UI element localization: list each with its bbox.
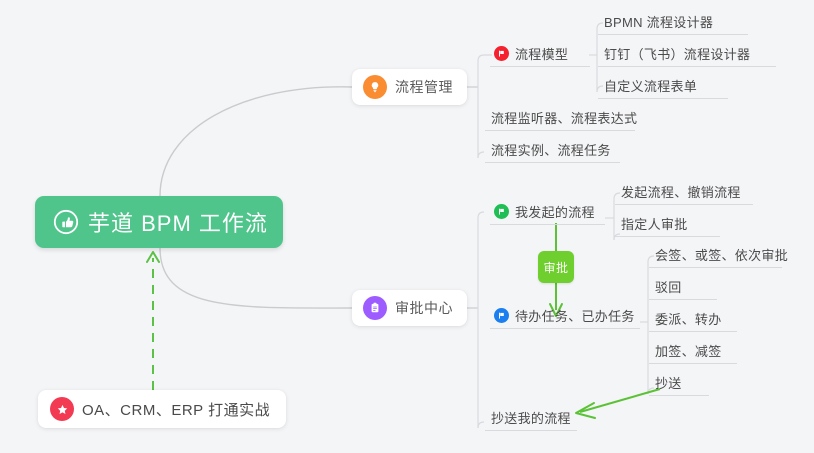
approval-chip-label: 审批 [543,259,568,276]
branch-process-management[interactable]: 流程管理 [352,69,467,105]
leaf-process-model[interactable]: 流程模型 [490,41,590,67]
branch-approval-center[interactable]: 审批中心 [352,290,467,326]
flag-icon [494,46,509,61]
bottom-note-card[interactable]: OA、CRM、ERP 打通实战 [38,390,286,428]
bottom-note-label: OA、CRM、ERP 打通实战 [82,399,270,420]
leaf-my-started-processes-label: 我发起的流程 [515,205,595,220]
flag-icon [494,308,509,323]
branch-approval-center-label: 审批中心 [395,298,453,318]
leaf-add-remove-sign[interactable]: 加签、减签 [649,338,737,364]
leaf-cc-to-me[interactable]: 抄送我的流程 [485,405,577,431]
branch-process-management-label: 流程管理 [395,77,453,97]
arrow-cc-shaft [580,389,660,412]
approval-chip[interactable]: 审批 [538,251,574,283]
leaf-listener-expression[interactable]: 流程监听器、流程表达式 [485,105,635,131]
star-icon [50,397,74,421]
leaf-reject-label: 驳回 [655,280,682,295]
leaf-assignee-approval-label: 指定人审批 [621,217,688,232]
arrow-note-to-root-head [147,252,159,262]
edge-root-to-approval-center [160,248,352,308]
leaf-start-cancel-process-label: 发起流程、撤销流程 [621,185,741,200]
root-label: 芋道 BPM 工作流 [88,206,268,238]
mindmap-canvas: 芋道 BPM 工作流 流程管理 流程模型 BPMN 流程设计器 钉钉（飞书）流程… [0,0,814,453]
leaf-assignee-approval[interactable]: 指定人审批 [615,211,720,237]
root-node[interactable]: 芋道 BPM 工作流 [35,196,283,248]
thumbs-up-icon [53,209,79,235]
leaf-instance-task-label: 流程实例、流程任务 [491,143,611,158]
spine-bottom-cap-process [478,152,484,158]
leaf-instance-task[interactable]: 流程实例、流程任务 [485,137,620,163]
leaf-countersign[interactable]: 会签、或签、依次审批 [649,242,782,268]
clipboard-icon [363,296,387,320]
leaf-dingtalk-designer-label: 钉钉（飞书）流程设计器 [604,47,750,62]
leaf-bpmn-designer-label: BPMN 流程设计器 [604,15,713,30]
leaf-process-model-label: 流程模型 [515,47,568,62]
leaf-custom-form-label: 自定义流程表单 [604,79,697,94]
leaf-cc-label: 抄送 [655,376,682,391]
leaf-custom-form[interactable]: 自定义流程表单 [598,73,728,99]
leaf-reject[interactable]: 驳回 [649,274,717,300]
leaf-my-started-processes[interactable]: 我发起的流程 [490,199,605,225]
leaf-todo-done-tasks-label: 待办任务、已办任务 [515,309,635,324]
leaf-cc-to-me-label: 抄送我的流程 [491,411,571,426]
leaf-listener-expression-label: 流程监听器、流程表达式 [491,111,637,126]
leaf-bpmn-designer[interactable]: BPMN 流程设计器 [598,9,748,35]
leaf-dingtalk-designer[interactable]: 钉钉（飞书）流程设计器 [598,41,776,67]
spine-top-cap-approval [478,212,484,218]
edge-root-to-process-management [160,87,352,196]
leaf-delegate-transfer-label: 委派、转办 [655,312,722,327]
lightbulb-icon [363,75,387,99]
spine-bottom-cap-approval [478,422,484,428]
leaf-countersign-label: 会签、或签、依次审批 [655,248,788,263]
leaf-cc[interactable]: 抄送 [649,370,709,396]
leaf-add-remove-sign-label: 加签、减签 [655,344,722,359]
leaf-todo-done-tasks[interactable]: 待办任务、已办任务 [490,303,640,329]
leaf-delegate-transfer[interactable]: 委派、转办 [649,306,737,332]
leaf-start-cancel-process[interactable]: 发起流程、撤销流程 [615,179,753,205]
arrow-cc-head [576,403,595,418]
flag-icon [494,204,509,219]
